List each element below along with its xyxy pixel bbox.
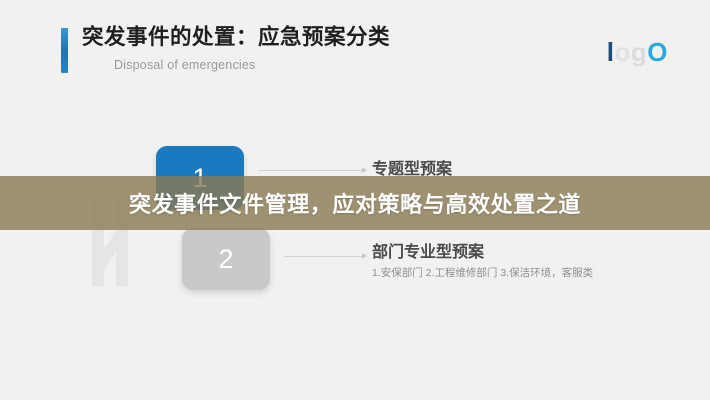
- arrow-head-icon-1: [362, 167, 367, 173]
- caption-text: 突发事件文件管理，应对策略与高效处置之道: [129, 187, 581, 219]
- connector-line-2: [284, 256, 362, 257]
- caption-band: 突发事件文件管理，应对策略与高效处置之道: [0, 176, 710, 230]
- plan-item-2-sub: 1.安保部门 2.工程维修部门 3.保洁环境，客服类: [372, 267, 593, 280]
- plan-item-2: 部门专业型预案 1.安保部门 2.工程维修部门 3.保洁环境，客服类: [372, 243, 593, 280]
- step-box-2: 2: [182, 228, 270, 290]
- step-number-2: 2: [218, 244, 233, 275]
- connector-line-1: [258, 170, 362, 171]
- plan-item-2-label: 部门专业型预案: [372, 243, 593, 262]
- arrow-head-icon-2: [362, 253, 367, 259]
- slide-canvas: 突发事件的处置：应急预案分类 Disposal of emergencies l…: [0, 0, 710, 400]
